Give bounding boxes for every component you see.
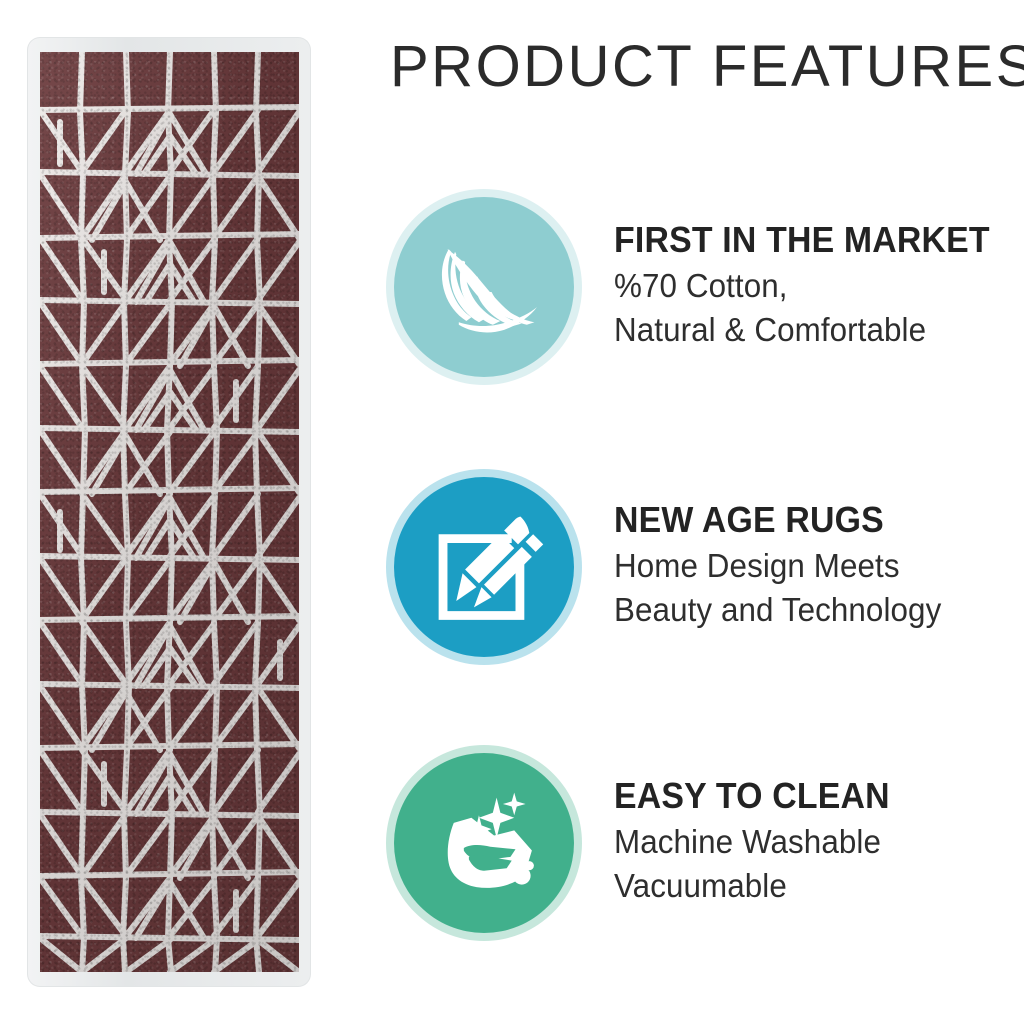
feature-text-block: EASY TO CLEAN Machine Washable Vacuumabl… bbox=[586, 777, 1007, 910]
feature-description-line: Home Design Meets bbox=[614, 544, 987, 588]
feature-item-easy-to-clean: EASY TO CLEAN Machine Washable Vacuumabl… bbox=[382, 738, 1007, 948]
product-rug-image bbox=[28, 38, 310, 986]
feature-icon-badge bbox=[382, 465, 586, 669]
rug-pattern-field bbox=[40, 52, 299, 972]
feature-icon-badge bbox=[382, 185, 586, 389]
feature-description-line: Natural & Comfortable bbox=[614, 308, 994, 352]
feature-description-line: %70 Cotton, bbox=[614, 264, 994, 308]
feature-item-new-age-rugs: NEW AGE RUGS Home Design Meets Beauty an… bbox=[382, 462, 1007, 672]
design-pen-icon bbox=[421, 504, 547, 630]
feature-heading: FIRST IN THE MARKET bbox=[614, 221, 990, 259]
feature-text-block: NEW AGE RUGS Home Design Meets Beauty an… bbox=[586, 501, 1007, 634]
feature-description-line: Beauty and Technology bbox=[614, 588, 987, 632]
feature-description-line: Vacuumable bbox=[614, 864, 987, 908]
page-title: PRODUCT FEATURES bbox=[390, 33, 1005, 100]
feather-icon bbox=[421, 224, 547, 350]
infographic-canvas: PRODUCT FEATURES FIRST IN THE MARKET %70… bbox=[0, 0, 1024, 1024]
rug-geometric-pattern bbox=[40, 52, 299, 972]
feature-heading: EASY TO CLEAN bbox=[614, 777, 983, 815]
hand-wipe-clean-icon bbox=[421, 780, 547, 906]
feature-text-block: FIRST IN THE MARKET %70 Cotton, Natural … bbox=[586, 221, 1014, 354]
feature-item-first-in-the-market: FIRST IN THE MARKET %70 Cotton, Natural … bbox=[382, 182, 1007, 392]
feature-description-line: Machine Washable bbox=[614, 820, 987, 864]
feature-heading: NEW AGE RUGS bbox=[614, 501, 983, 539]
feature-icon-badge bbox=[382, 741, 586, 945]
